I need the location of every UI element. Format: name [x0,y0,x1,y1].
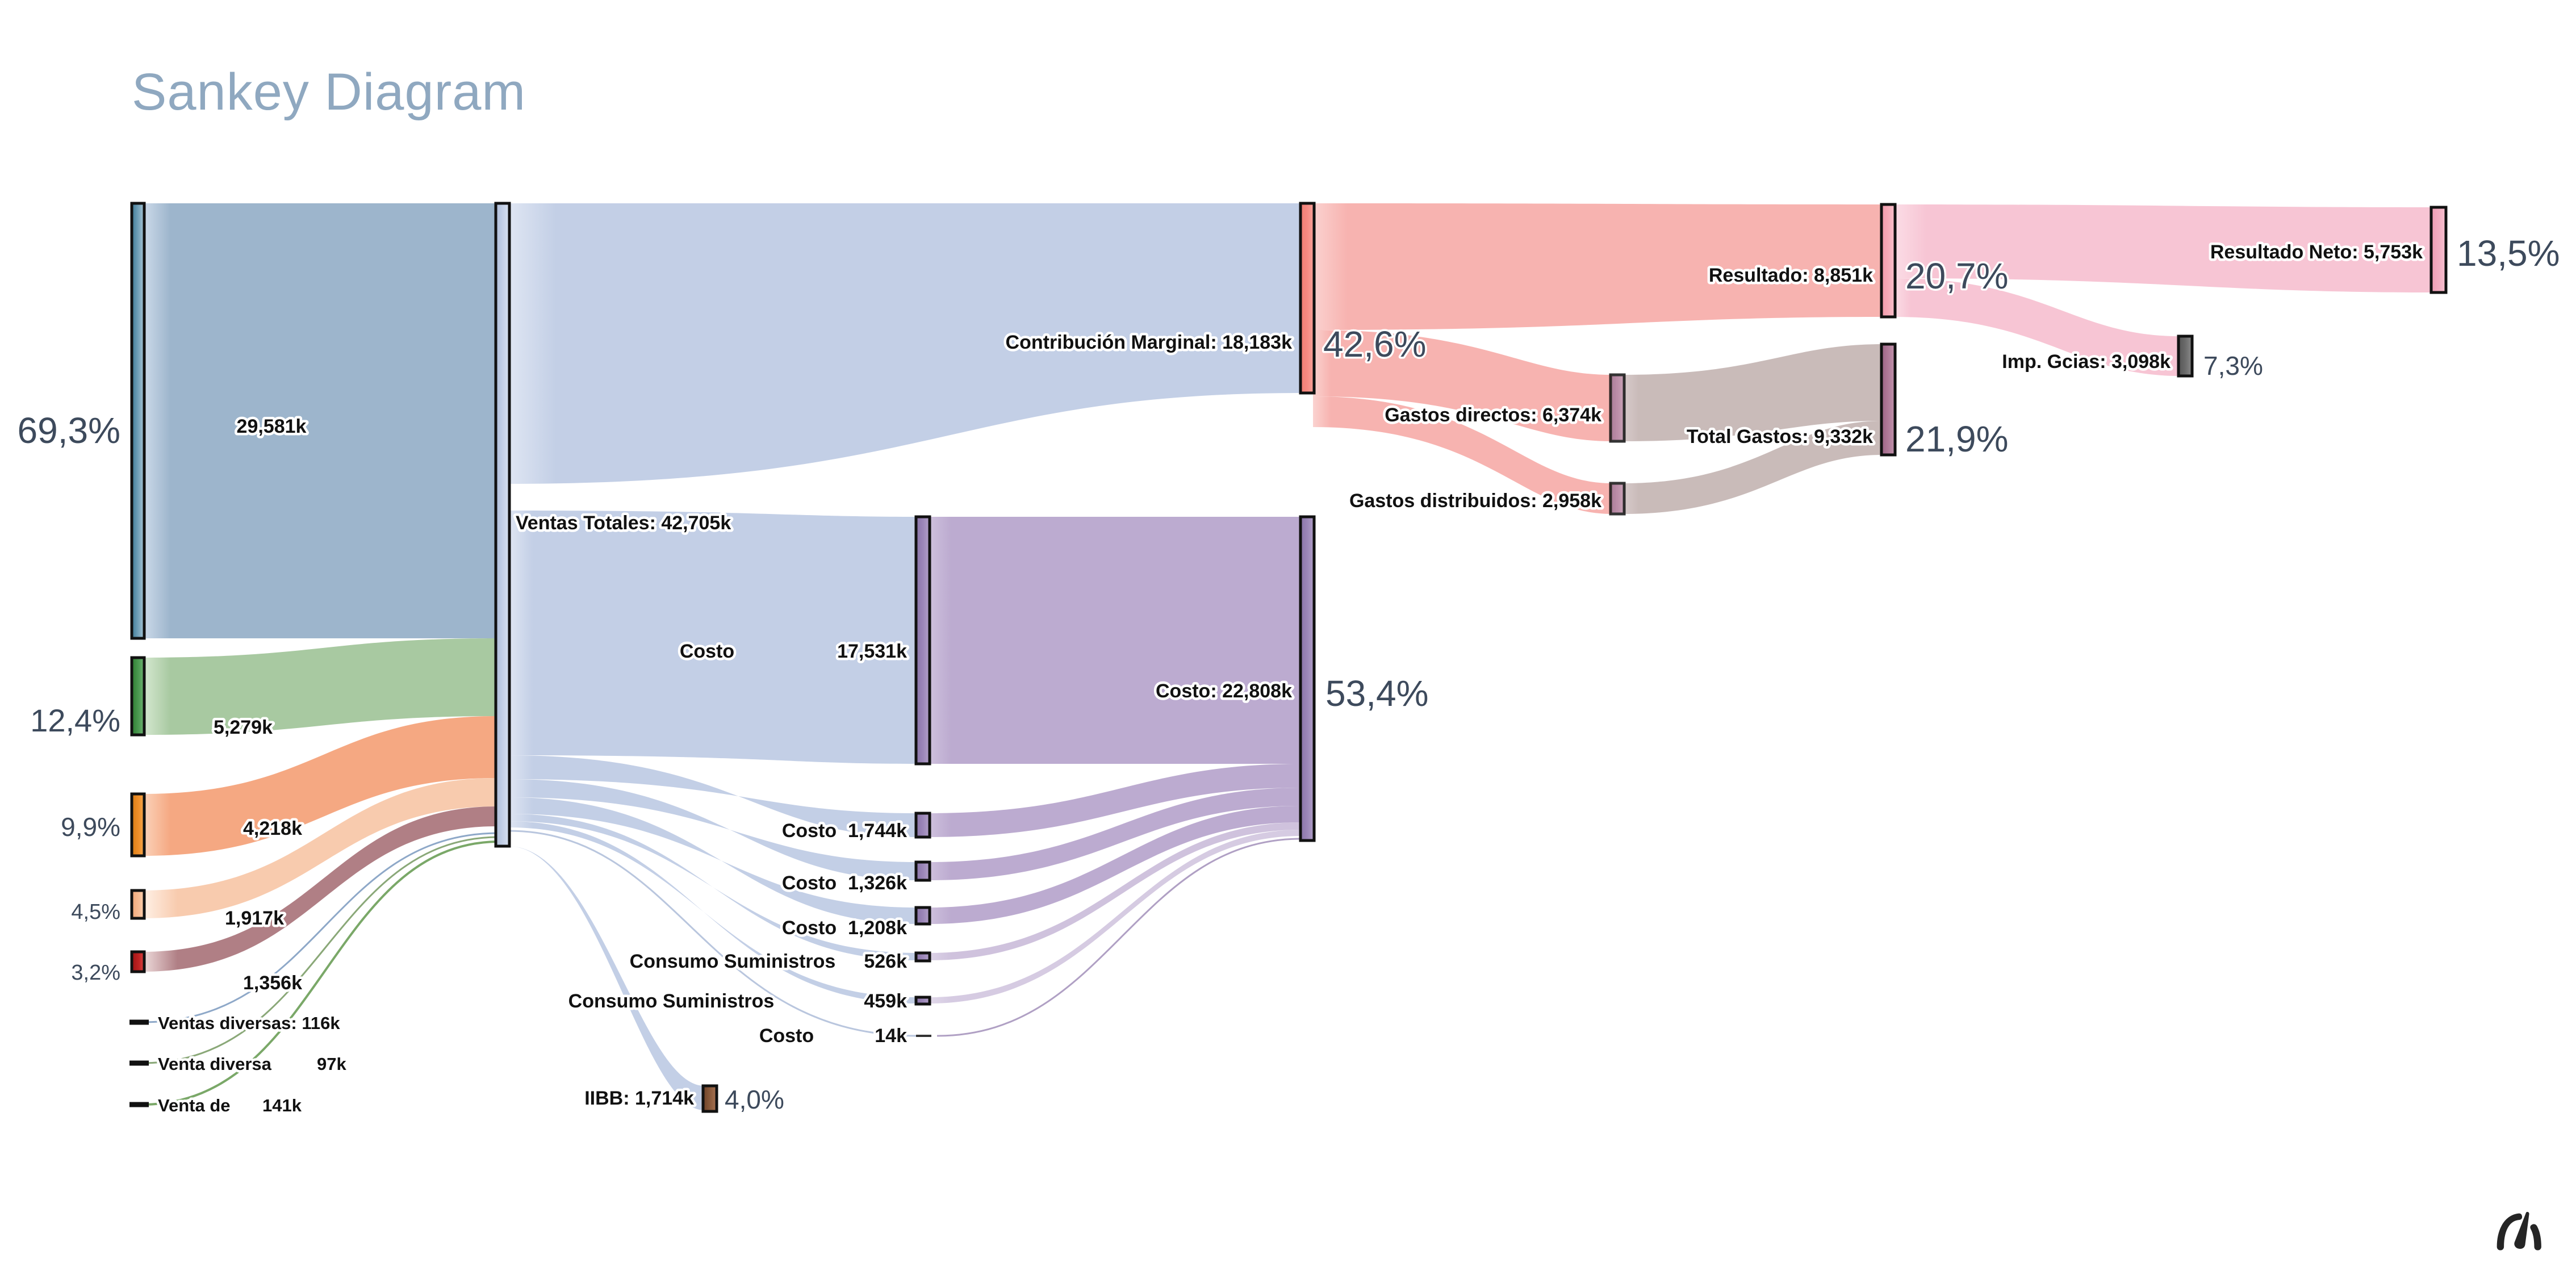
label-consumo-1-value: 526k [864,951,907,972]
label-costo-3-name: Costo [782,872,837,894]
label-costo-3-value: 1,326k [848,872,907,894]
legend: Ventas diversas: 116k Venta diversa 97k … [129,1013,346,1115]
label-iibb: IIBB: 1,714k [584,1088,694,1109]
legend-label-1: Venta diversa [158,1054,272,1074]
links-costo-sub-to-costo-total [929,517,1302,1036]
label-resultado-neto: Resultado Neto: 5,753k [2210,241,2423,263]
link-ventas1-to-total[interactable] [142,203,497,638]
node-contribucion-marginal[interactable] [1300,203,1314,393]
node-costo-sub-1326[interactable] [916,862,930,880]
pct-iibb: 4,0% [725,1085,784,1114]
pct-contribucion: 42,6% [1323,324,1426,365]
node-ventas-totales[interactable] [496,203,509,846]
label-costo-main-value: 17,531k [837,641,907,662]
link-total-to-costo-main[interactable] [508,511,917,764]
link-costosub-main-to-costototal[interactable] [929,517,1302,764]
legend-label-0: Ventas diversas: 116k [158,1013,340,1033]
label-costo-6-value: 14k [875,1025,907,1047]
legend-value-1: 97k [317,1054,346,1074]
label-consumo-1-name: Consumo Suministros [630,951,836,972]
label-link-ventas1: 29,581k [237,416,307,437]
pct-ventas-4: 4,5% [71,900,120,924]
monogram-m-icon [2497,1212,2541,1251]
label-link-ventas4: 1,917k [225,908,284,929]
label-costo-2-value: 1,744k [848,820,907,842]
label-consumo-2-name: Consumo Suministros [568,990,775,1012]
node-consumo-sub-459[interactable] [916,997,930,1004]
pct-ventas-1: 69,3% [18,410,120,451]
node-gastos-directos[interactable] [1611,375,1624,441]
brand-logo[interactable] [2492,1207,2544,1253]
pct-resultado: 20,7% [1905,256,2008,296]
label-consumo-2-value: 459k [864,990,907,1012]
pct-resultado-neto: 13,5% [2457,233,2560,274]
pct-ventas-2: 12,4% [30,702,120,738]
label-costo-2-name: Costo [782,820,837,842]
label-link-ventas3: 4,218k [243,818,302,839]
node-imp-gcias[interactable] [2178,336,2192,376]
node-ventas-3[interactable] [132,794,144,856]
pct-costo-total: 53,4% [1325,673,1428,714]
pct-imp-gcias: 7,3% [2203,351,2263,380]
node-iibb[interactable] [703,1086,717,1111]
node-ventas-2[interactable] [132,658,144,735]
label-costo-4-value: 1,208k [848,917,907,939]
pct-total-gastos: 21,9% [1905,419,2008,459]
pct-ventas-3: 9,9% [61,812,120,842]
label-imp-gcias: Imp. Gcias: 3,098k [2002,351,2171,373]
sankey-svg: 29,581k 5,279k 4,218k 1,917k 1,356k Vent… [0,0,2576,1288]
node-resultado-neto[interactable] [2431,207,2446,292]
node-resultado[interactable] [1881,204,1895,317]
label-resultado: Resultado: 8,851k [1709,265,1873,286]
label-gastos-directos: Gastos directos: 6,374k [1385,404,1601,426]
label-costo-total: Costo: 22,808k [1156,680,1292,702]
label-costo-main-name: Costo [680,641,734,662]
label-gastos-distribuidos: Gastos distribuidos: 2,958k [1349,490,1601,512]
label-costo-6-name: Costo [759,1025,814,1047]
node-ventas-5[interactable] [132,952,144,972]
node-costo-sub-main[interactable] [916,517,930,764]
sankey-diagram-canvas: Sankey Diagram [0,0,2576,1288]
node-costo-sub-1208[interactable] [916,908,930,924]
label-ventas-totales: Ventas Totales: 42,705k [516,512,731,534]
node-consumo-sub-526[interactable] [916,953,930,961]
node-ventas-1[interactable] [132,203,144,638]
node-total-gastos[interactable] [1881,344,1895,455]
label-contribucion-marginal: Contribución Marginal: 18,183k [1006,332,1293,353]
links-sources-to-ventas-totales [142,203,497,1105]
node-costo-total[interactable] [1300,517,1314,840]
label-costo-4-name: Costo [782,917,837,939]
node-ventas-4[interactable] [132,890,144,918]
label-total-gastos: Total Gastos: 9,332k [1687,426,1873,448]
label-link-ventas5: 1,356k [243,972,302,994]
legend-label-2: Venta de [158,1095,231,1115]
legend-value-2: 141k [262,1095,302,1115]
node-gastos-distribuidos[interactable] [1611,483,1624,514]
pct-ventas-5: 3,2% [71,961,120,985]
label-link-ventas2: 5,279k [214,717,273,738]
node-costo-sub-1744[interactable] [916,813,930,837]
